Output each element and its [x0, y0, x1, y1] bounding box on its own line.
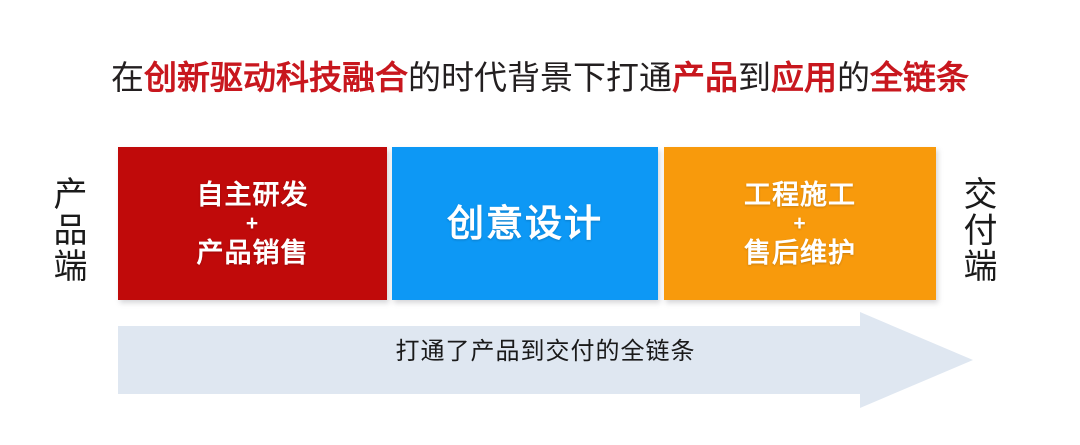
stage-box-rnd[interactable]: 自主研发 + 产品销售 — [118, 147, 387, 300]
side-label-delivery-end: 交付端 — [952, 155, 1000, 305]
stage-build-line-1: 工程施工 — [744, 178, 856, 212]
stage-rnd-line-1: 自主研发 — [197, 178, 309, 212]
stage-box-build[interactable]: 工程施工 + 售后维护 — [664, 147, 936, 300]
side-label-product-end: 产品端 — [42, 155, 90, 305]
title-segment-5: 到 — [738, 59, 771, 96]
title-segment-1: 在 — [111, 59, 144, 96]
title-segment-2-highlight: 创新驱动科技融合 — [144, 59, 408, 96]
stage-rnd-line-2: 产品销售 — [197, 236, 309, 270]
title-segment-4-highlight: 产品 — [672, 59, 738, 96]
stage-build-plus: + — [793, 212, 806, 236]
stage-design-line-1: 创意设计 — [447, 202, 603, 246]
title-segment-8-highlight: 全链条 — [870, 59, 969, 96]
title-segment-7: 的 — [837, 59, 870, 96]
title-segment-6-highlight: 应用 — [771, 59, 837, 96]
stage-box-design[interactable]: 创意设计 — [392, 147, 658, 300]
stage-rnd-plus: + — [246, 212, 259, 236]
slide-canvas: 在创新驱动科技融合的时代背景下打通产品到应用的全链条 产品端 交付端 自主研发 … — [0, 0, 1080, 445]
stage-build-line-2: 售后维护 — [744, 236, 856, 270]
arrow-caption: 打通了产品到交付的全链条 — [118, 337, 973, 367]
page-title: 在创新驱动科技融合的时代背景下打通产品到应用的全链条 — [0, 58, 1080, 98]
title-segment-3: 的时代背景下打通 — [408, 59, 672, 96]
